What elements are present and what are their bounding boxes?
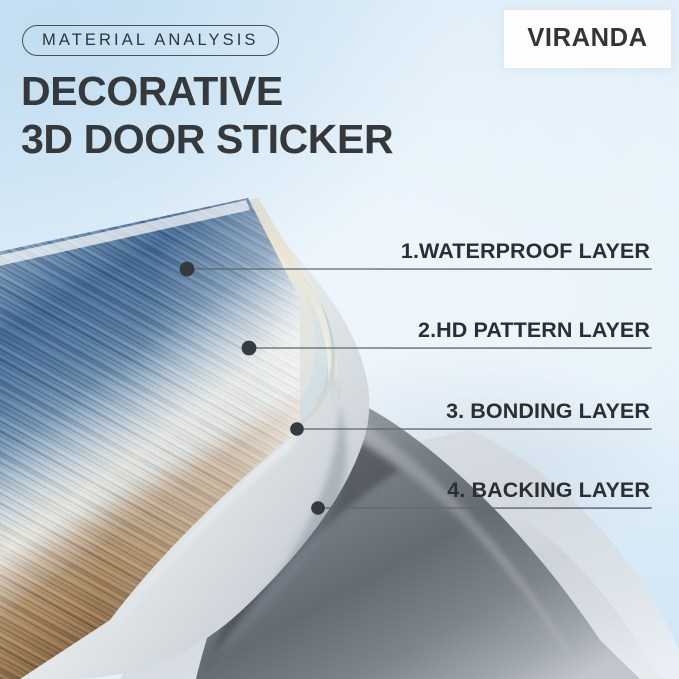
callout-label-hd-pattern-layer: 2.HD PATTERN LAYER (418, 320, 650, 342)
kicker-text: MATERIAL ANALYSIS (42, 32, 259, 49)
brand-logo-badge: VIRANDA (504, 10, 671, 68)
callout-label-text: 3. BONDING LAYER (446, 401, 650, 423)
kicker-badge: MATERIAL ANALYSIS (22, 25, 279, 56)
page-title-line-1: DECORATIVE (21, 68, 491, 116)
product-infographic-poster: 1.WATERPROOF LAYER 2.HD PATTERN LAYER 3.… (0, 0, 679, 679)
callout-rule-1 (372, 269, 650, 270)
callout-label-waterproof-layer: 1.WATERPROOF LAYER (401, 241, 650, 263)
callout-dot-icon-4[interactable] (311, 501, 325, 515)
callout-dot-icon-1[interactable] (180, 262, 195, 277)
callout-dot-icon-3[interactable] (290, 422, 304, 436)
callout-label-text: 4. BACKING LAYER (447, 480, 650, 502)
page-title-line-2: 3D DOOR STICKER (21, 116, 491, 164)
callout-dot-icon-2[interactable] (242, 341, 257, 356)
callout-rule-2 (372, 348, 650, 349)
callout-rule-4 (388, 508, 650, 509)
callout-label-text: 2.HD PATTERN LAYER (418, 320, 650, 342)
callout-label-text: 1.WATERPROOF LAYER (401, 241, 650, 263)
callout-rule-3 (388, 429, 650, 430)
page-title: DECORATIVE 3D DOOR STICKER (21, 68, 491, 163)
brand-name-text: VIRANDA (527, 26, 647, 52)
callout-label-backing-layer: 4. BACKING LAYER (447, 480, 650, 502)
callout-label-bonding-layer: 3. BONDING LAYER (446, 401, 650, 423)
